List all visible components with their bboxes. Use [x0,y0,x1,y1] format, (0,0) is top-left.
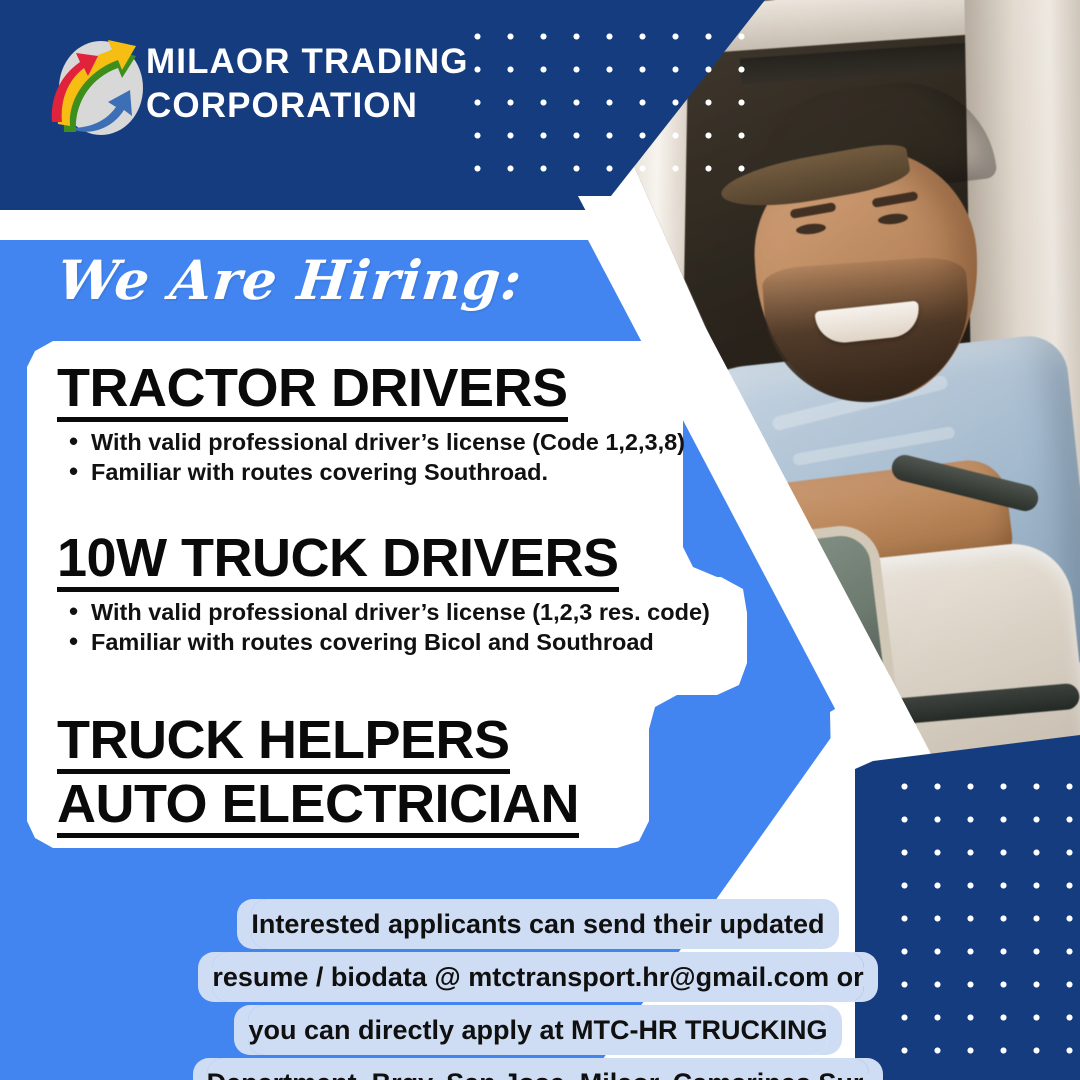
job-requirements: With valid professional driver’s license… [57,598,747,656]
requirement-item: Familiar with routes covering Bicol and … [91,628,747,656]
milaor-globe-arrows-logo [44,32,154,142]
contact-line: Department, Brgy. San Jose, Milaor, Cama… [178,1057,898,1080]
requirement-item: With valid professional driver’s license… [91,598,747,626]
contact-instructions: Interested applicants can send their upd… [178,898,898,1080]
requirement-item: With valid professional driver’s license… [91,428,697,456]
job-listing-truck-helpers: TRUCK HELPERS [57,711,697,774]
contact-line: you can directly apply at MTC-HR TRUCKIN… [178,1004,898,1057]
contact-line-text: Interested applicants can send their upd… [251,899,824,949]
jobs-card-content: TRACTOR DRIVERS With valid professional … [27,341,747,848]
job-listing-tractor-drivers: TRACTOR DRIVERS With valid professional … [57,359,697,488]
job-title: TRUCK HELPERS [57,711,510,774]
job-title: TRACTOR DRIVERS [57,359,568,422]
contact-line: Interested applicants can send their upd… [178,898,898,951]
header-dot-pattern [455,12,765,198]
requirement-item: Familiar with routes covering Southroad. [91,458,697,486]
job-listing-10w-truck-drivers: 10W TRUCK DRIVERS With valid professiona… [57,529,747,658]
brand-name: MILAOR TRADING CORPORATION [146,40,476,128]
contact-line-text: resume / biodata @ mtctransport.hr@gmail… [212,952,863,1002]
brand-line-1: MILAOR TRADING [146,40,476,84]
hiring-poster: MILAOR TRADING CORPORATION We Are Hiring… [0,0,1080,1080]
hiring-headline: We Are Hiring: [0,248,583,312]
contact-line-text: Department, Brgy. San Jose, Milaor, Cama… [207,1058,870,1080]
bottom-dot-pattern [880,760,1080,1070]
job-listing-auto-electrician: AUTO ELECTRICIAN [57,775,697,838]
brand-line-2: CORPORATION [146,84,476,128]
job-title: 10W TRUCK DRIVERS [57,529,619,592]
contact-line: resume / biodata @ mtctransport.hr@gmail… [178,951,898,1004]
job-title: AUTO ELECTRICIAN [57,775,579,838]
contact-line-text: you can directly apply at MTC-HR TRUCKIN… [248,1005,827,1055]
job-requirements: With valid professional driver’s license… [57,428,697,486]
